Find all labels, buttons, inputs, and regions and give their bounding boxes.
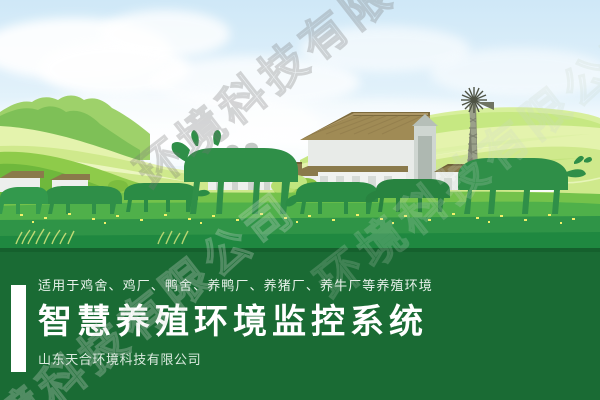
landscape: [0, 0, 600, 252]
accent-bar: [11, 285, 26, 372]
banner-text-block: 适用于鸡舍、鸡厂、鸭舍、养鸭厂、养猪厂、养牛厂等养殖环境 智慧养殖环境监控系统 …: [38, 278, 578, 370]
farm-scene: [0, 0, 600, 252]
tagline: 适用于鸡舍、鸡厂、鸭舍、养鸭厂、养猪厂、养牛厂等养殖环境: [38, 278, 578, 296]
page-title: 智慧养殖环境监控系统: [38, 300, 578, 344]
company-name: 山东天合环境科技有限公司: [38, 352, 578, 370]
banner-top-edge: [0, 248, 600, 252]
poster-root: 适用于鸡舍、鸡厂、鸭舍、养鸭厂、养猪厂、养牛厂等养殖环境 智慧养殖环境监控系统 …: [0, 0, 600, 400]
title-banner: 适用于鸡舍、鸡厂、鸭舍、养鸭厂、养猪厂、养牛厂等养殖环境 智慧养殖环境监控系统 …: [0, 248, 600, 400]
